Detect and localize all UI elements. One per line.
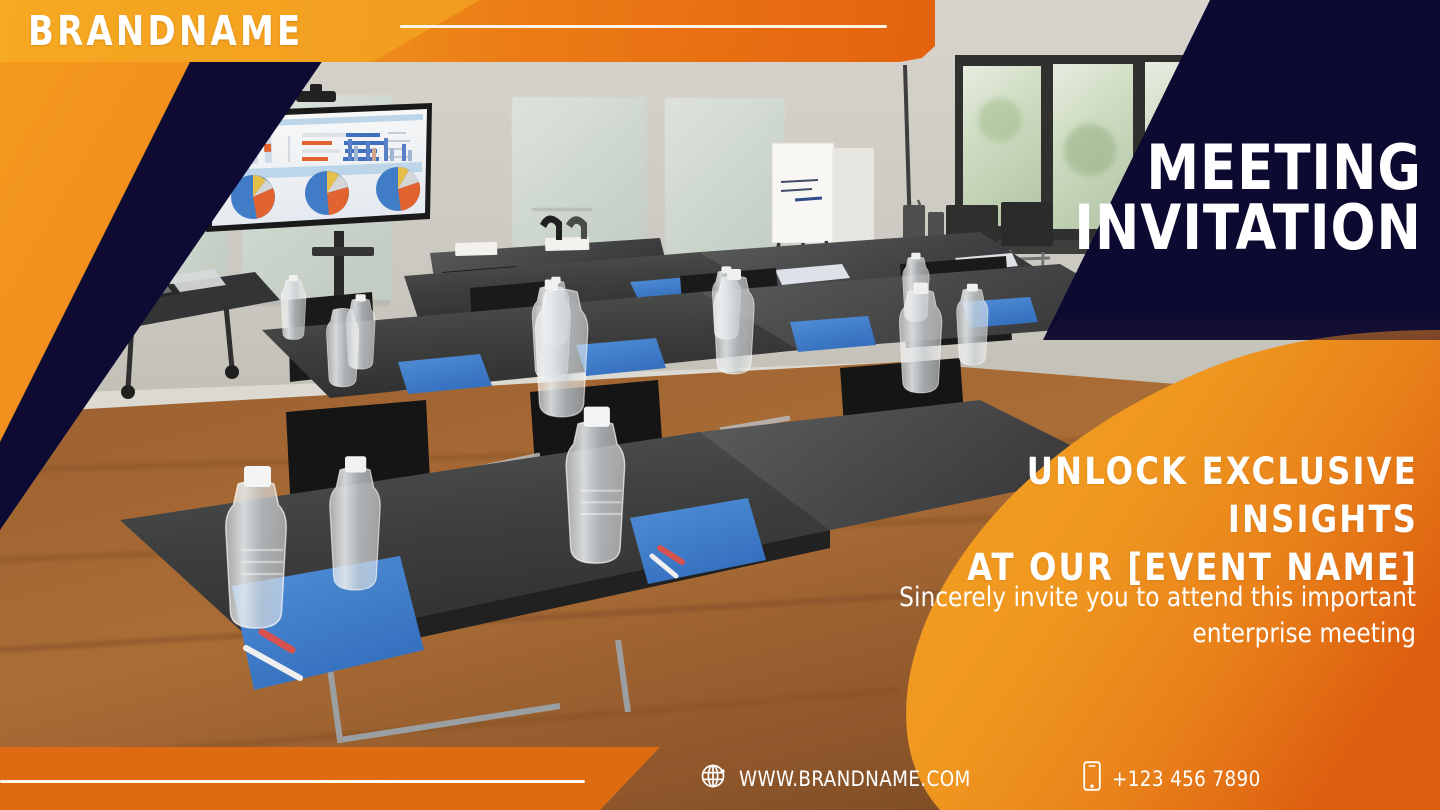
title-line-2: INVITATION: [1074, 198, 1422, 258]
subtext-line-2: enterprise meeting: [821, 616, 1416, 652]
meeting-invitation-poster: BRANDNAME MEETING INVITATION UNLOCK EXCL…: [0, 0, 1440, 810]
footer: WWW.BRANDNAME.COM +123 456 7890: [0, 747, 1440, 810]
brand-logo-text: BRANDNAME: [28, 8, 303, 54]
footer-divider-line: [0, 780, 585, 783]
website-contact[interactable]: WWW.BRANDNAME.COM: [700, 762, 978, 795]
invitation-subtext: Sincerely invite you to attend this impo…: [796, 580, 1416, 652]
website-text: WWW.BRANDNAME.COM: [739, 767, 971, 791]
globe-icon: [700, 762, 728, 795]
phone-text: +123 456 7890: [1112, 767, 1261, 791]
headline: UNLOCK EXCLUSIVE INSIGHTS AT OUR [EVENT …: [818, 448, 1418, 592]
header-divider-line: [400, 25, 887, 28]
page-title: MEETING INVITATION: [1056, 138, 1422, 258]
phone-contact[interactable]: +123 456 7890: [1083, 761, 1265, 796]
mobile-phone-icon: [1083, 761, 1101, 796]
subtext-line-1: Sincerely invite you to attend this impo…: [821, 580, 1416, 616]
title-line-1: MEETING: [1074, 138, 1422, 198]
headline-line-1: UNLOCK EXCLUSIVE INSIGHTS: [836, 448, 1418, 544]
